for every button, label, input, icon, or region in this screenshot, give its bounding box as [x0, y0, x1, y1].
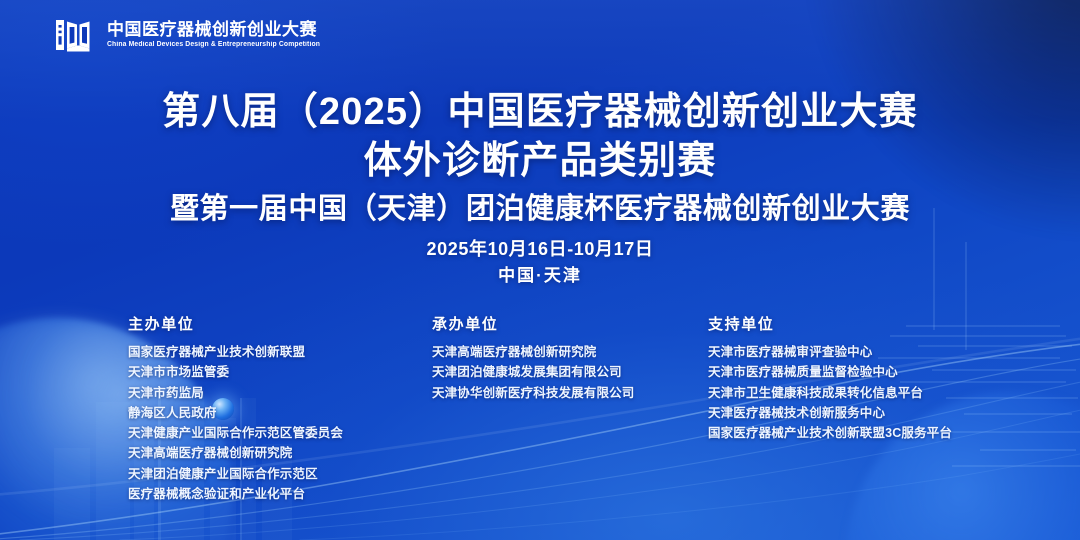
organizer-item: 医疗器械概念验证和产业化平台 — [128, 484, 343, 504]
organizer-item: 天津高端医疗器械创新研究院 — [128, 443, 343, 463]
organizer-item: 天津健康产业国际合作示范区管委员会 — [128, 423, 343, 443]
title-line-3: 暨第一届中国（天津）团泊健康杯医疗器械创新创业大赛 — [0, 191, 1080, 229]
organizer-item: 国家医疗器械产业技术创新联盟 — [128, 342, 343, 362]
organizer-column-heading: 支持单位 — [708, 316, 952, 334]
organizer-column-undertaker: 承办单位 天津高端医疗器械创新研究院 天津团泊健康城发展集团有限公司 天津协华创… — [432, 316, 634, 403]
organizer-item: 静海区人民政府 — [128, 403, 343, 423]
organizer-item: 天津市医疗器械质量监督检验中心 — [708, 362, 952, 382]
logo-chinese-name: 中国医疗器械创新创业大赛 — [107, 21, 327, 40]
event-date: 2025年10月16日-10月17日 — [0, 236, 1080, 263]
competition-logo: 中国医疗器械创新创业大赛 China Medical Devices Desig… — [52, 12, 327, 58]
logo-wordmark: 中国医疗器械创新创业大赛 China Medical Devices Desig… — [107, 21, 327, 48]
event-location: 中国·天津 — [0, 263, 1080, 289]
organizer-columns: 主办单位 国家医疗器械产业技术创新联盟 天津市市场监管委 天津市药监局 静海区人… — [0, 316, 1080, 506]
organizer-column-heading: 主办单位 — [128, 316, 343, 334]
organizer-item: 天津市医疗器械审评查验中心 — [708, 342, 952, 362]
organizer-item: 天津高端医疗器械创新研究院 — [432, 342, 634, 362]
organizer-item: 天津协华创新医疗科技发展有限公司 — [432, 383, 634, 403]
organizer-item: 天津市药监局 — [128, 383, 343, 403]
organizer-column-host: 主办单位 国家医疗器械产业技术创新联盟 天津市市场监管委 天津市药监局 静海区人… — [128, 316, 343, 504]
organizer-item: 天津团泊健康产业国际合作示范区 — [128, 464, 343, 484]
organizer-item: 国家医疗器械产业技术创新联盟3C服务平台 — [708, 423, 952, 443]
logo-english-name: China Medical Devices Design & Entrepren… — [107, 41, 320, 49]
conference-banner: 中国医疗器械创新创业大赛 China Medical Devices Desig… — [0, 0, 1080, 540]
banner-title-block: 第八届（2025）中国医疗器械创新创业大赛 体外诊断产品类别赛 暨第一届中国（天… — [0, 88, 1080, 229]
organizer-column-supporter: 支持单位 天津市医疗器械审评查验中心 天津市医疗器械质量监督检验中心 天津市卫生… — [708, 316, 952, 443]
organizer-column-heading: 承办单位 — [432, 316, 634, 334]
open-book-logo-icon — [52, 12, 98, 58]
title-line-2: 体外诊断产品类别赛 — [0, 137, 1080, 186]
event-meta-block: 2025年10月16日-10月17日 中国·天津 — [0, 236, 1080, 289]
organizer-item: 天津医疗器械技术创新服务中心 — [708, 403, 952, 423]
organizer-item: 天津团泊健康城发展集团有限公司 — [432, 362, 634, 382]
title-line-1: 第八届（2025）中国医疗器械创新创业大赛 — [0, 88, 1080, 137]
organizer-item: 天津市卫生健康科技成果转化信息平台 — [708, 383, 952, 403]
organizer-item: 天津市市场监管委 — [128, 362, 343, 382]
